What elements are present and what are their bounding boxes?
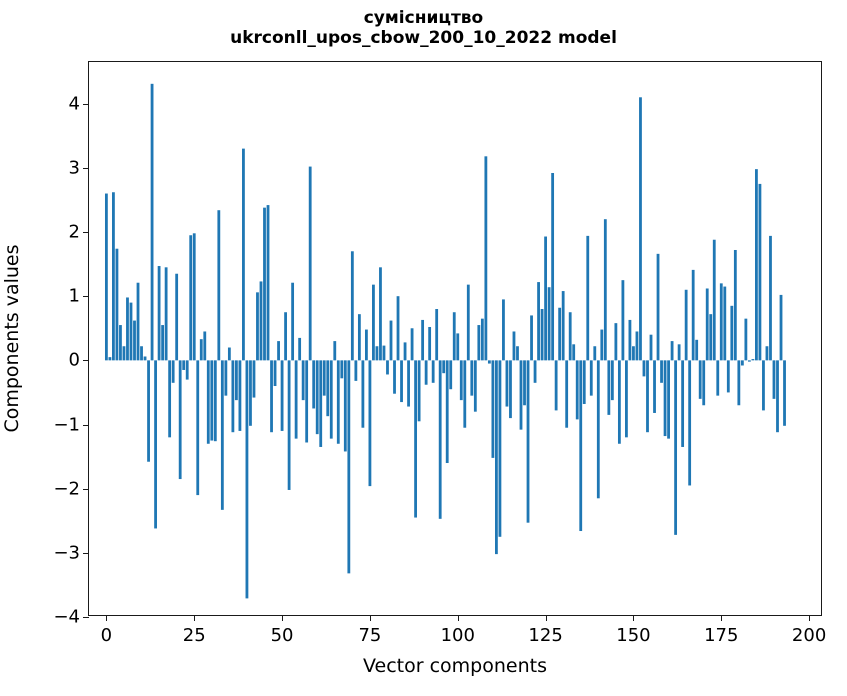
bar	[330, 360, 333, 438]
bar	[137, 283, 140, 361]
x-axis-tick	[809, 615, 810, 621]
bar	[688, 360, 691, 485]
bar	[344, 360, 347, 451]
x-axis-tick	[458, 615, 459, 621]
bar	[312, 360, 315, 408]
bar	[435, 309, 438, 360]
bar	[593, 346, 596, 360]
bar	[140, 346, 143, 360]
bar	[660, 360, 663, 382]
bar	[421, 320, 424, 360]
x-axis-tick-label: 25	[183, 625, 206, 646]
bar	[369, 360, 372, 486]
bar	[474, 360, 477, 411]
bar	[769, 236, 772, 360]
bar	[151, 84, 154, 361]
bar	[418, 360, 421, 421]
bar	[144, 357, 147, 361]
bar	[281, 360, 284, 431]
bar	[653, 360, 656, 413]
bar	[267, 205, 270, 360]
bar	[513, 331, 516, 360]
x-axis-tick-label: 200	[792, 625, 826, 646]
bar	[393, 360, 396, 393]
bar	[548, 287, 551, 360]
bar	[112, 192, 115, 360]
bar	[383, 346, 386, 361]
bar	[319, 360, 322, 447]
bar	[734, 250, 737, 360]
plot-area	[89, 62, 821, 615]
bar	[354, 360, 357, 381]
bar	[361, 360, 364, 427]
y-axis-tick-label: 0	[69, 350, 80, 371]
bar	[650, 335, 653, 361]
bar	[537, 282, 540, 360]
bar	[681, 360, 684, 447]
bar	[523, 360, 526, 405]
x-axis-tick-label: 125	[528, 625, 562, 646]
bar	[565, 360, 568, 427]
bar	[224, 360, 227, 395]
bar	[158, 266, 161, 360]
bar	[766, 346, 769, 360]
y-axis-label: Components values	[0, 61, 24, 616]
bar	[692, 270, 695, 360]
bar	[527, 360, 530, 522]
bar	[667, 360, 670, 438]
chart-title-line1: сумісництво	[0, 8, 847, 28]
y-axis-tick-label: −4	[53, 607, 80, 628]
bar	[214, 360, 217, 441]
bar	[179, 360, 182, 479]
bar	[221, 360, 224, 510]
bar	[288, 360, 291, 490]
bar	[305, 360, 308, 442]
bar	[193, 233, 196, 360]
bar	[607, 360, 610, 415]
bar	[428, 327, 431, 360]
bar	[175, 274, 178, 361]
bar	[520, 360, 523, 429]
bar	[203, 331, 206, 360]
x-axis-tick	[633, 615, 634, 621]
bar	[411, 328, 414, 360]
bar	[611, 360, 614, 400]
bar	[618, 360, 621, 443]
bar	[425, 360, 428, 384]
bar	[646, 360, 649, 432]
bar-series	[89, 62, 821, 615]
bar	[291, 283, 294, 361]
x-axis-tick-label: 150	[616, 625, 650, 646]
bar	[397, 296, 400, 360]
bar	[109, 357, 112, 360]
y-axis-tick-label: 3	[69, 157, 80, 178]
bar	[256, 292, 259, 360]
bar	[439, 360, 442, 518]
bar	[555, 360, 558, 410]
bar	[116, 249, 119, 361]
bar	[720, 283, 723, 360]
bar	[477, 325, 480, 360]
x-axis-tick	[546, 615, 547, 621]
bar	[491, 360, 494, 458]
y-axis-tick	[83, 553, 89, 554]
bar	[752, 359, 755, 360]
x-axis-tick-label: 100	[441, 625, 475, 646]
bar	[664, 360, 667, 436]
bar	[379, 267, 382, 360]
bar	[228, 348, 231, 361]
bar	[231, 360, 234, 432]
bar	[182, 360, 185, 370]
bar	[506, 360, 509, 406]
bar	[326, 360, 329, 416]
x-axis-tick	[194, 615, 195, 621]
bar	[713, 240, 716, 361]
y-axis-tick	[83, 617, 89, 618]
bar	[432, 360, 435, 382]
bar	[463, 360, 466, 427]
bar	[590, 360, 593, 395]
y-axis-tick	[83, 232, 89, 233]
bar	[579, 360, 582, 531]
y-axis-tick-label: 2	[69, 222, 80, 243]
y-axis-tick-label: −3	[53, 542, 80, 563]
x-axis-tick-label: 75	[358, 625, 381, 646]
bar	[189, 235, 192, 360]
bar	[671, 341, 674, 360]
bar	[323, 360, 326, 395]
bar	[210, 360, 213, 440]
bar	[702, 360, 705, 405]
bar	[277, 341, 280, 360]
bar	[737, 360, 740, 405]
bar	[509, 360, 512, 418]
bar	[270, 360, 273, 432]
bar	[481, 319, 484, 361]
bar	[414, 360, 417, 517]
y-axis-tick	[83, 168, 89, 169]
bar	[217, 210, 220, 360]
bar	[337, 360, 340, 443]
bar	[748, 360, 751, 361]
bar	[161, 325, 164, 360]
bar	[534, 360, 537, 382]
bar	[755, 169, 758, 360]
bar	[551, 173, 554, 360]
bar	[597, 360, 600, 498]
bar	[207, 360, 210, 443]
bar	[502, 299, 505, 360]
bar	[699, 360, 702, 399]
bar	[730, 306, 733, 361]
bar	[716, 360, 719, 395]
bar	[516, 346, 519, 360]
chart-title: сумісництво ukrconll_upos_cbow_200_10_20…	[0, 8, 847, 48]
bar	[544, 237, 547, 361]
bar	[558, 308, 561, 361]
bar	[239, 360, 242, 431]
bar	[695, 340, 698, 361]
bar	[674, 360, 677, 535]
bar	[242, 149, 245, 361]
bar	[773, 360, 776, 399]
bar	[186, 360, 189, 379]
bar	[776, 360, 779, 432]
x-axis-tick-label: 175	[704, 625, 738, 646]
bar	[456, 333, 459, 360]
bar	[196, 360, 199, 495]
bar	[302, 360, 305, 400]
bar	[105, 194, 108, 361]
bar	[340, 360, 343, 378]
bar	[678, 344, 681, 360]
bar	[453, 312, 456, 360]
bar	[744, 319, 747, 361]
bar	[470, 360, 473, 395]
bar	[484, 156, 487, 360]
bar	[621, 280, 624, 360]
x-axis-tick-label: 50	[271, 625, 294, 646]
bar	[600, 330, 603, 361]
bar	[400, 360, 403, 402]
bar	[495, 360, 498, 554]
bar	[372, 285, 375, 361]
bar	[583, 360, 586, 404]
x-axis-tick	[370, 615, 371, 621]
bar	[639, 97, 642, 360]
bar	[274, 360, 277, 386]
bar	[446, 360, 449, 463]
bar	[632, 346, 635, 360]
bar	[541, 309, 544, 360]
y-axis-tick-label: 1	[69, 286, 80, 307]
y-axis-tick	[83, 296, 89, 297]
bar	[130, 303, 133, 361]
bar	[636, 331, 639, 360]
y-axis-tick	[83, 425, 89, 426]
bar	[172, 360, 175, 382]
bar	[499, 360, 502, 536]
bar	[759, 184, 762, 360]
bar	[562, 291, 565, 360]
bar	[572, 344, 575, 360]
bar	[404, 342, 407, 360]
bar	[604, 219, 607, 360]
bar	[709, 314, 712, 360]
bar	[488, 360, 491, 363]
bar	[727, 360, 730, 392]
bar	[235, 360, 238, 400]
bar	[358, 314, 361, 360]
bar	[365, 330, 368, 361]
bar	[586, 236, 589, 360]
bar	[569, 312, 572, 360]
bar	[780, 295, 783, 360]
bar	[133, 321, 136, 361]
bar	[263, 208, 266, 361]
bar	[762, 360, 765, 410]
bar	[260, 281, 263, 360]
bar	[333, 341, 336, 360]
y-axis-tick-label: −2	[53, 478, 80, 499]
bar	[168, 360, 171, 437]
bar	[154, 360, 157, 528]
x-axis-tick	[721, 615, 722, 621]
bar	[298, 338, 301, 360]
y-axis-tick-label: 4	[69, 93, 80, 114]
x-axis-label: Vector components	[88, 655, 822, 677]
plot-axes: −4−3−2−1012340255075100125150175200	[88, 61, 822, 616]
bar	[386, 360, 389, 374]
bar	[530, 315, 533, 360]
bar	[643, 360, 646, 376]
bar	[295, 360, 298, 438]
bar	[126, 297, 129, 360]
bar	[467, 285, 470, 361]
y-axis-tick-label: −1	[53, 414, 80, 435]
bar	[284, 312, 287, 360]
bar	[706, 288, 709, 360]
bar	[460, 360, 463, 400]
bar	[614, 323, 617, 360]
y-axis-tick	[83, 360, 89, 361]
bar	[685, 290, 688, 361]
x-axis-tick-label: 0	[101, 625, 112, 646]
bar	[200, 339, 203, 360]
bar	[449, 360, 452, 389]
bar	[123, 346, 126, 360]
bar	[442, 360, 445, 373]
bar	[629, 320, 632, 360]
bar	[309, 167, 312, 361]
bar	[657, 254, 660, 361]
bar	[119, 325, 122, 360]
bar	[625, 360, 628, 437]
bar	[253, 360, 256, 397]
bar	[246, 360, 249, 598]
bar	[407, 360, 410, 406]
chart-title-line2: ukrconll_upos_cbow_200_10_2022 model	[0, 28, 847, 48]
bar	[376, 346, 379, 360]
bar	[390, 321, 393, 361]
bar	[165, 267, 168, 360]
bar	[147, 360, 150, 461]
x-axis-tick	[282, 615, 283, 621]
bar	[249, 360, 252, 425]
y-axis-tick	[83, 104, 89, 105]
x-axis-tick	[106, 615, 107, 621]
bar	[741, 360, 744, 365]
chart-figure: сумісництво ukrconll_upos_cbow_200_10_20…	[0, 0, 847, 696]
bar	[351, 251, 354, 360]
bar	[783, 360, 786, 425]
y-axis-tick	[83, 489, 89, 490]
bar	[316, 360, 319, 434]
bar	[723, 287, 726, 361]
bar	[347, 360, 350, 573]
bar	[576, 360, 579, 419]
